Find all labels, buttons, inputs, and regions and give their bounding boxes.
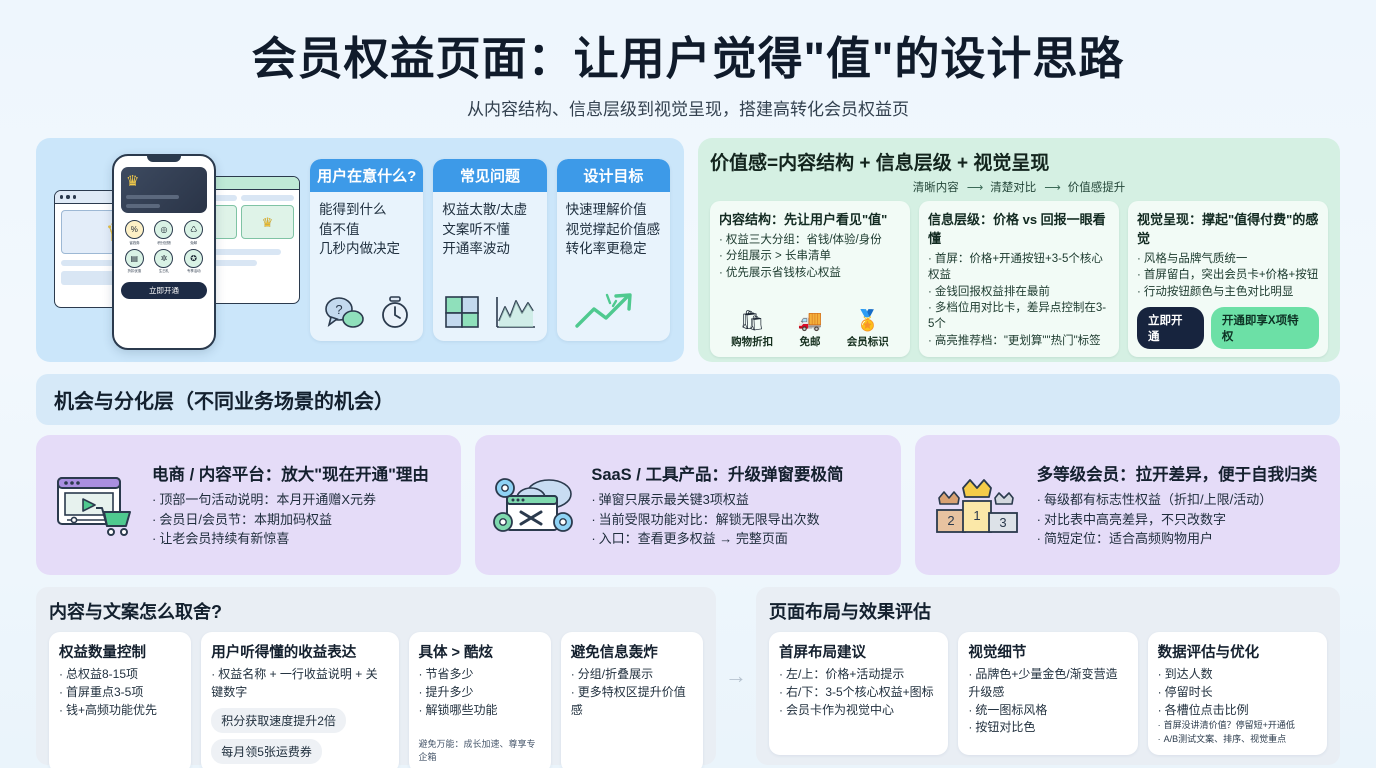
card-title: 电商 / 内容平台：放大"现在开通"理由: [152, 461, 445, 485]
benefit-tile: ♛: [241, 205, 294, 239]
privileges-button[interactable]: 开通即享X项特权: [1211, 307, 1319, 349]
bottom-row: 内容与文案怎么取舍? 权益数量控制 总权益8-15项 首屏重点3-5项 钱+高频…: [36, 587, 1340, 765]
card-ecommerce: 电商 / 内容平台：放大"现在开通"理由 顶部一句活动说明：本月开通赠X元券 会…: [36, 435, 461, 575]
card-avoid-overload: 避免信息轰炸 分组/折叠展示 更多特权区提升价值感: [561, 632, 703, 768]
icon-wrap: [491, 472, 577, 538]
card-tiered-membership: 2 1 3 多等级会员：拉开差异，便于自我归类 每级都有标志性权益（折扣/上限/…: [915, 435, 1340, 575]
benefit-label: 折扣优惠: [121, 269, 148, 274]
page-subtitle: 从内容结构、信息层级到视觉呈现，搭建高转化会员权益页: [36, 95, 1340, 120]
card-line: 几秒内做决定: [319, 239, 414, 259]
bullet: 会员卡作为视觉中心: [779, 702, 938, 720]
svg-text:2: 2: [947, 513, 954, 528]
icon-wrap: [52, 472, 138, 538]
device-mockup-group: ♛ ♛ ♛: [50, 150, 300, 350]
bullet: 各槽位点击比例: [1158, 702, 1317, 720]
example-pill: 积分获取速度提升2倍: [211, 708, 346, 733]
card-title: 首屏布局建议: [779, 641, 938, 662]
bullet: 首屏重点3-5项: [59, 684, 181, 702]
card-icons: [557, 291, 670, 341]
benefit-item[interactable]: ✲ 生日礼: [151, 249, 178, 275]
bullet: 总权益8-15项: [59, 666, 181, 684]
card-user-concerns: 用户在意什么? 能得到什么 值不值 几秒内做决定 ?: [310, 159, 423, 341]
card-title: 内容结构：先让用户看见"值": [719, 209, 901, 228]
member-badge-icon: 🏅: [847, 308, 889, 333]
shipping-icon: ♺: [184, 220, 203, 239]
section-layout-evaluation: 页面布局与效果评估 首屏布局建议 左/上：价格+活动提示 右/下：3-5个核心权…: [756, 587, 1340, 765]
bullet: 首屏：价格+开通按钮+3-5个核心权益: [928, 251, 1110, 284]
card-line: 快速理解价值: [566, 200, 661, 220]
bullet: 每级都有标志性权益（折扣/上限/活动）: [1037, 490, 1324, 510]
layout-cards: 首屏布局建议 左/上：价格+活动提示 右/下：3-5个核心权益+图标 会员卡作为…: [769, 632, 1327, 755]
discount-icon: %: [125, 220, 144, 239]
section-connector-arrow-icon: →: [716, 587, 756, 765]
card-body: 电商 / 内容平台：放大"现在开通"理由 顶部一句活动说明：本月开通赠X元券 会…: [152, 461, 445, 549]
card-header: 设计目标: [557, 159, 670, 192]
card-icons: [433, 293, 546, 341]
benefit-label: 免邮: [180, 241, 207, 246]
title-block: 会员权益页面：让用户觉得"值"的设计思路 从内容结构、信息层级到视觉呈现，搭建高…: [36, 0, 1340, 120]
card-icons: ?: [310, 295, 423, 341]
benefit-item[interactable]: ◎ 积分回馈: [151, 220, 178, 246]
bullet: 会员日/会员节：本期加码权益: [152, 510, 445, 530]
phone-mockup: ♛ % 省钱券 ◎ 积分回馈 ♺: [112, 154, 216, 350]
card-title: SaaS / 工具产品：升级弹窗要极简: [591, 461, 884, 485]
bullet: 到达人数: [1158, 666, 1317, 684]
bullet: 金钱回报权益排在最前: [928, 284, 1110, 300]
card-title: 多等级会员：拉开差异，便于自我归类: [1037, 461, 1324, 485]
card-body: SaaS / 工具产品：升级弹窗要极简 弹窗只展示最关键3项权益 当前受限功能对…: [591, 461, 884, 549]
infographic-page: 会员权益页面：让用户觉得"值"的设计思路 从内容结构、信息层级到视觉呈现，搭建高…: [0, 0, 1376, 768]
bullet: 节省多少: [419, 666, 541, 684]
bullet: 钱+高频功能优先: [59, 702, 181, 720]
phone-cta-button[interactable]: 立即开通: [121, 282, 207, 299]
tools-cloud-icon: [491, 472, 577, 538]
growth-arrow-icon: [572, 291, 654, 331]
podium-crown-icon: 2 1 3: [931, 472, 1023, 538]
bullet: 右/下：3-5个核心权益+图标: [779, 684, 938, 702]
card-title: 信息层级：价格 vs 回报一眼看懂: [928, 209, 1110, 247]
card-information-hierarchy: 信息层级：价格 vs 回报一眼看懂 首屏：价格+开通按钮+3-5个核心权益 金钱…: [919, 201, 1119, 357]
card-data-evaluation: 数据评估与优化 到达人数 停留时长 各槽位点击比例 首屏没讲清价值？停留短+开通…: [1148, 632, 1327, 755]
puzzle-icon: [443, 293, 483, 331]
card-first-screen-layout: 首屏布局建议 左/上：价格+活动提示 右/下：3-5个核心权益+图标 会员卡作为…: [769, 632, 948, 755]
bullet: 统一图标风格: [968, 702, 1127, 720]
membership-hero-card: ♛: [121, 167, 207, 213]
card-design-goals: 设计目标 快速理解价值 视觉撑起价值感 转化率更稳定: [557, 159, 670, 341]
bullet: 分组/折叠展示: [571, 666, 693, 684]
arrow-right-icon: ⟶: [967, 180, 983, 194]
section-title: 内容与文案怎么取舍?: [49, 598, 703, 624]
bullet: 优先展示省钱核心权益: [719, 265, 901, 281]
stopwatch-icon: [379, 295, 411, 331]
card-title: 具体 > 酷炫: [419, 641, 541, 662]
benefit-label: 积分回馈: [151, 241, 178, 246]
benefit-discount: 🛍 购物折扣: [731, 308, 773, 349]
card-title: 视觉细节: [968, 641, 1127, 662]
benefit-badge: 🏅 会员标识: [847, 308, 889, 349]
benefit-label: 专享活动: [180, 269, 207, 274]
card-body: 权益太散/太虚 文案听不懂 开通率波动: [433, 192, 546, 263]
section-content-copy: 内容与文案怎么取舍? 权益数量控制 总权益8-15项 首屏重点3-5项 钱+高频…: [36, 587, 716, 765]
question-bubble-icon: ?: [323, 295, 369, 331]
benefit-item[interactable]: ♺ 免邮: [180, 220, 207, 246]
bullet: 行动按钮颜色与主色对比明显: [1137, 284, 1319, 300]
card-header: 用户在意什么?: [310, 159, 423, 192]
bullet: 权益三大分组：省钱/体验/身份: [719, 232, 901, 248]
card-line: 转化率更稳定: [566, 239, 661, 259]
card-saas: SaaS / 工具产品：升级弹窗要极简 弹窗只展示最关键3项权益 当前受限功能对…: [475, 435, 900, 575]
bullet: 左/上：价格+活动提示: [779, 666, 938, 684]
bullet: 权益名称 + 一行收益说明 + 关键数字: [211, 666, 388, 702]
bullet: 当前受限功能对比：解锁无限导出次数: [591, 510, 884, 530]
chart-line-icon: [493, 293, 537, 331]
arrow-right-icon: ⟶: [1044, 180, 1060, 194]
gift-icon: ✲: [154, 249, 173, 268]
card-visual-details: 视觉细节 品牌色+少量金色/渐变营造升级感 统一图标风格 按钮对比色: [958, 632, 1137, 755]
bullet: 对比表中高亮差异，不只改数字: [1037, 510, 1324, 530]
card-title: 权益数量控制: [59, 641, 181, 662]
blue-overview-panel: ♛ ♛ ♛: [36, 138, 684, 362]
benefit-shipping: 🚚 免邮: [798, 308, 823, 349]
benefit-item[interactable]: ▤ 折扣优惠: [121, 249, 148, 275]
video-cart-icon: [54, 472, 136, 538]
crown-icon: ♛: [126, 172, 202, 190]
flow-step: 清晰内容: [913, 179, 959, 195]
benefit-label: 生日礼: [151, 269, 178, 274]
card-line: 能得到什么: [319, 200, 414, 220]
section-title: 页面布局与效果评估: [769, 598, 1327, 624]
crown-icon: ♛: [262, 216, 274, 229]
benefit-item[interactable]: % 省钱券: [121, 220, 148, 246]
card-footnote: 避免万能：成长加速、尊享专企箱: [419, 734, 541, 763]
card-content-structure: 内容结构：先让用户看见"值" 权益三大分组：省钱/体验/身份 分组展示 > 长串…: [710, 201, 910, 357]
bullet: 提升多少: [419, 684, 541, 702]
svg-text:?: ?: [335, 302, 342, 317]
card-title: 用户听得懂的收益表达: [211, 641, 388, 662]
phone-notch: [147, 156, 181, 162]
value-cards: 内容结构：先让用户看见"值" 权益三大分组：省钱/体验/身份 分组展示 > 长串…: [710, 201, 1328, 357]
bullet: 更多特权区提升价值感: [571, 684, 693, 720]
bullet: 风格与品牌气质统一: [1137, 251, 1319, 267]
card-visual-presentation: 视觉呈现：撑起"值得付费"的感觉 风格与品牌气质统一 首屏留白，突出会员卡+价格…: [1128, 201, 1328, 357]
free-shipping-truck-icon: 🚚: [798, 308, 823, 333]
benefit-label: 省钱券: [121, 241, 148, 246]
bullet: 让老会员持续有新惊喜: [152, 529, 445, 549]
opportunity-band-title: 机会与分化层（不同业务场景的机会）: [36, 374, 1340, 425]
bullet: 解锁哪些功能: [419, 702, 541, 720]
coupon-icon: ▤: [125, 249, 144, 268]
card-line: 文案听不懂: [442, 220, 537, 240]
top-row: ♛ ♛ ♛: [36, 138, 1340, 362]
card-header: 常见问题: [433, 159, 546, 192]
bullet: 按钮对比色: [968, 719, 1127, 737]
card-specific-over-fancy: 具体 > 酷炫 节省多少 提升多少 解锁哪些功能 避免万能：成长加速、尊享专企箱: [409, 632, 551, 768]
benefit-item[interactable]: ✪ 专享活动: [180, 249, 207, 275]
flow-step: 价值感提升: [1068, 179, 1126, 195]
value-formula-panel: 价值感=内容结构 + 信息层级 + 视觉呈现 清晰内容 ⟶ 清楚对比 ⟶ 价值感…: [698, 138, 1340, 362]
discount-bag-icon: 🛍: [731, 308, 773, 333]
points-icon: ◎: [154, 220, 173, 239]
benefit-icon-row: 🛍 购物折扣 🚚 免邮 🏅 会员标识: [719, 304, 901, 349]
bullet: 顶部一句活动说明：本月开通赠X元券: [152, 490, 445, 510]
small-note: 首屏没讲清价值？停留短+开通低: [1158, 719, 1317, 733]
card-body: 能得到什么 值不值 几秒内做决定: [310, 192, 423, 263]
scenario-cards: 电商 / 内容平台：放大"现在开通"理由 顶部一句活动说明：本月开通赠X元券 会…: [36, 435, 1340, 575]
page-title: 会员权益页面：让用户觉得"值"的设计思路: [36, 22, 1340, 87]
bullet: 弹窗只展示最关键3项权益: [591, 490, 884, 510]
bullet: 首屏留白，突出会员卡+价格+按钮: [1137, 267, 1319, 283]
icon-wrap: 2 1 3: [931, 472, 1023, 538]
benefit-icon-grid: % 省钱券 ◎ 积分回馈 ♺ 免邮 ▤ 折扣优惠: [121, 220, 207, 274]
bullet: 入口：查看更多权益 → 完整页面: [591, 529, 884, 549]
flow-step: 清楚对比: [990, 179, 1036, 195]
card-line: 开通率波动: [442, 239, 537, 259]
bullet: 简短定位：适合高频购物用户: [1037, 529, 1324, 549]
bullet: 分组展示 > 长串清单: [719, 248, 901, 264]
card-title: 视觉呈现：撑起"值得付费"的感觉: [1137, 209, 1319, 247]
card-body: 多等级会员：拉开差异，便于自我归类 每级都有标志性权益（折扣/上限/活动） 对比…: [1037, 461, 1324, 549]
card-line: 视觉撑起价值感: [566, 220, 661, 240]
card-body: 快速理解价值 视觉撑起价值感 转化率更稳定: [557, 192, 670, 263]
value-flow: 清晰内容 ⟶ 清楚对比 ⟶ 价值感提升: [710, 179, 1328, 195]
card-common-problems: 常见问题 权益太散/太虚 文案听不懂 开通率波动: [433, 159, 546, 341]
small-note: A/B测试文案、排序、视觉重点: [1158, 733, 1317, 747]
subscribe-now-button[interactable]: 立即开通: [1137, 307, 1204, 349]
event-icon: ✪: [184, 249, 203, 268]
card-benefit-count: 权益数量控制 总权益8-15项 首屏重点3-5项 钱+高频功能优先: [49, 632, 191, 768]
card-title: 避免信息轰炸: [571, 641, 693, 662]
cta-button-group: 立即开通 开通即享X项特权: [1137, 301, 1319, 349]
bullet: 品牌色+少量金色/渐变营造升级感: [968, 666, 1127, 702]
content-cards: 权益数量控制 总权益8-15项 首屏重点3-5项 钱+高频功能优先 用户听得懂的…: [49, 632, 703, 768]
bullet: 停留时长: [1158, 684, 1317, 702]
bullet: 高亮推荐档："更划算""热门"标签: [928, 333, 1110, 349]
card-benefit-expression: 用户听得懂的收益表达 权益名称 + 一行收益说明 + 关键数字 积分获取速度提升…: [201, 632, 398, 768]
value-panel-title: 价值感=内容结构 + 信息层级 + 视觉呈现: [710, 148, 1328, 175]
bullet: 多档位用对比卡，差异点控制在3-5个: [928, 300, 1110, 333]
card-line: 值不值: [319, 220, 414, 240]
card-title: 数据评估与优化: [1158, 641, 1317, 662]
svg-text:1: 1: [973, 508, 980, 523]
concern-cards: 用户在意什么? 能得到什么 值不值 几秒内做决定 ?: [310, 159, 670, 341]
svg-text:3: 3: [999, 515, 1006, 530]
example-pill: 每月领5张运费券: [211, 739, 322, 764]
card-line: 权益太散/太虚: [442, 200, 537, 220]
